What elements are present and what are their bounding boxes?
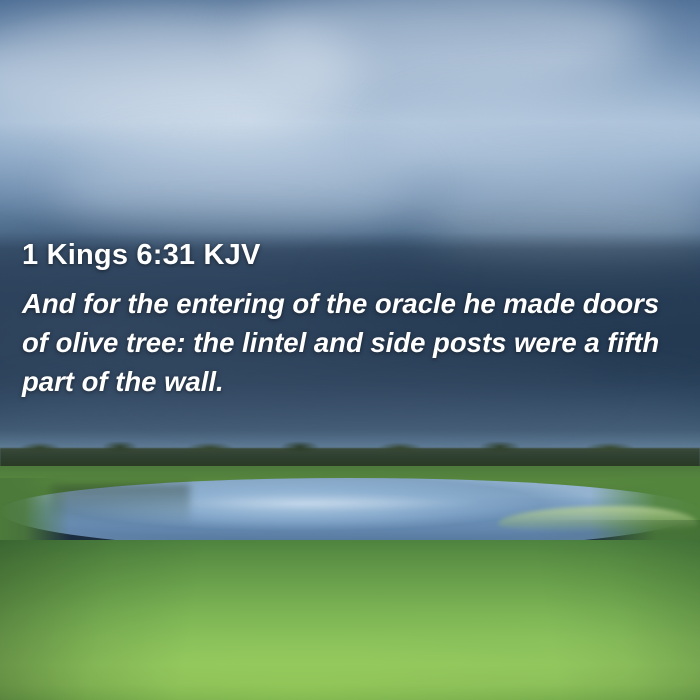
grass-shadow-right bbox=[530, 520, 700, 700]
verse-reference: 1 Kings 6:31 KJV bbox=[22, 240, 678, 272]
tree-reflection bbox=[50, 484, 190, 526]
verse-block: 1 Kings 6:31 KJV And for the entering of… bbox=[0, 240, 700, 401]
cloud-shape bbox=[380, 90, 700, 190]
verse-image-card: 1 Kings 6:31 KJV And for the entering of… bbox=[0, 0, 700, 700]
cloud-shape bbox=[60, 140, 420, 235]
verse-text: And for the entering of the oracle he ma… bbox=[22, 284, 678, 401]
grass-shadow-left bbox=[0, 540, 230, 700]
